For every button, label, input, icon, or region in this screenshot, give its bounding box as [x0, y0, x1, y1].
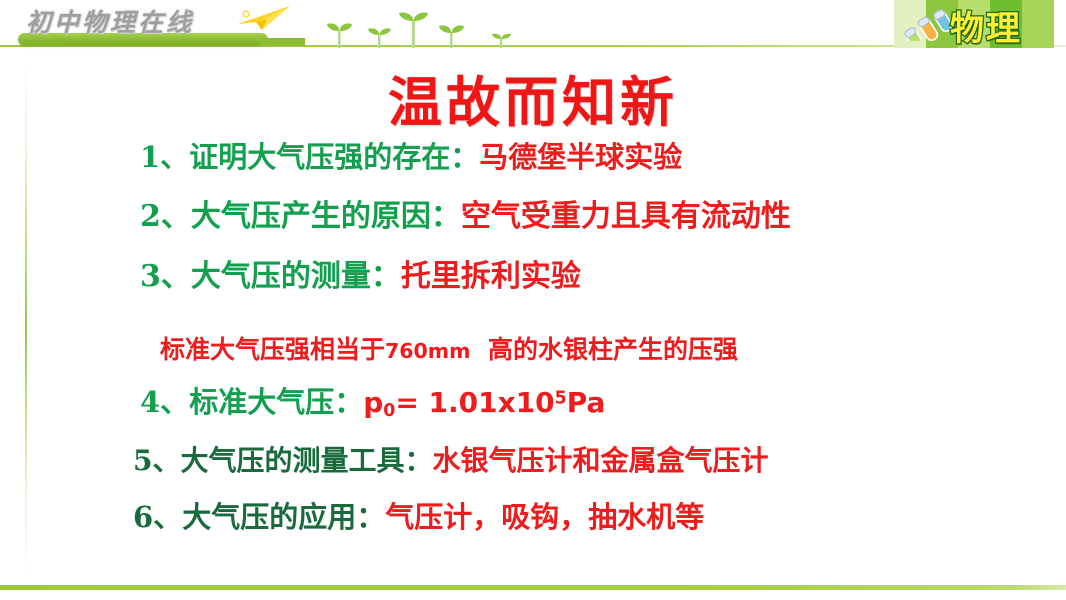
list-item-1: 1、证明大气压强的存在：马德堡半球实验 — [140, 143, 682, 172]
item-1-number: 1、 — [140, 140, 189, 174]
formula-subscript: 0 — [383, 401, 395, 421]
formula-standard-pressure: p0= 1.01x105Pa — [363, 386, 605, 419]
item-3-number: 3、 — [140, 259, 191, 294]
item-6-number: 6、 — [133, 500, 182, 534]
item-2-answer: 空气受重力且具有流动性 — [461, 199, 791, 234]
formula-unit: Pa — [567, 386, 606, 419]
note-value: 760mm — [385, 339, 471, 363]
subject-logo-text: 物理 — [950, 1, 1022, 50]
paper-plane-icon — [236, 4, 292, 34]
item-1-label: 证明大气压强的存在： — [189, 140, 479, 174]
note-prefix: 标准大气压强相当于 — [160, 335, 385, 364]
item-6-label: 大气压的应用： — [182, 500, 385, 534]
item-5-label: 大气压的测量工具： — [180, 444, 432, 477]
item-3-answer: 托里拆利实验 — [401, 259, 581, 294]
note-standard-pressure: 标准大气压强相当于760mm 高的水银柱产生的压强 — [160, 337, 738, 362]
item-1-answer: 马德堡半球实验 — [479, 140, 682, 174]
subject-logo: 物理 — [894, 0, 1054, 48]
slide-canvas: 初中物理在线 — [0, 0, 1066, 600]
site-logo-text: 初中物理在线 — [26, 3, 194, 39]
item-4-number: 4、 — [140, 385, 189, 419]
list-item-4: 4、标准大气压：p0= 1.01x105Pa — [140, 388, 605, 420]
item-4-label: 标准大气压： — [189, 385, 363, 419]
item-5-number: 5、 — [133, 444, 180, 477]
formula-exponent: 5 — [555, 389, 567, 409]
sprout-icon — [300, 10, 560, 48]
item-2-number: 2、 — [140, 199, 191, 234]
formula-equals: = 1.01x10 — [395, 386, 554, 419]
page-title: 温故而知新 — [0, 58, 1066, 137]
footer-rule — [0, 585, 1066, 590]
item-3-label: 大气压的测量： — [191, 259, 401, 294]
list-item-2: 2、大气压产生的原因：空气受重力且具有流动性 — [140, 202, 791, 232]
list-item-5: 5、大气压的测量工具：水银气压计和金属盒气压计 — [133, 447, 769, 475]
item-2-label: 大气压产生的原因： — [191, 199, 461, 234]
item-6-answer: 气压计，吸钩，抽水机等 — [385, 500, 704, 534]
formula-symbol: p — [363, 386, 383, 419]
header-green-bar-extension — [260, 38, 305, 46]
note-suffix: 高的水银柱产生的压强 — [488, 335, 738, 364]
slide-header: 初中物理在线 — [0, 0, 1066, 52]
list-item-6: 6、大气压的应用：气压计，吸钩，抽水机等 — [133, 503, 704, 532]
list-item-3: 3、大气压的测量：托里拆利实验 — [140, 262, 581, 292]
item-5-answer: 水银气压计和金属盒气压计 — [433, 444, 769, 477]
